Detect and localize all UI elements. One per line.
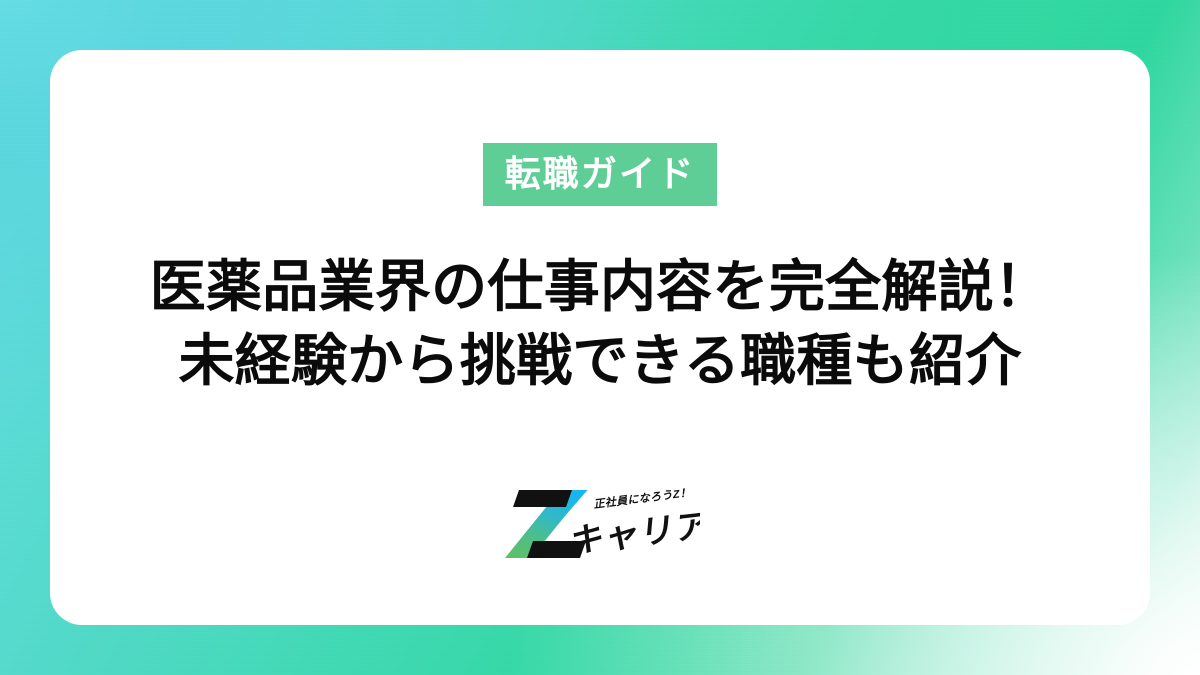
headline-line-2: 未経験から挑戦できる職種も紹介 — [150, 324, 1050, 398]
z-top-bar — [513, 490, 572, 507]
content-card: 転職ガイド 医薬品業界の仕事内容を完全解説！ 未経験から挑戦できる職種も紹介 — [50, 50, 1150, 625]
z-career-logo-icon: 正社員になろうZ！ キャリア — [500, 481, 700, 567]
brand-logo: 正社員になろうZ！ キャリア — [500, 481, 700, 567]
ogp-canvas: 転職ガイド 医薬品業界の仕事内容を完全解説！ 未経験から挑戦できる職種も紹介 — [0, 0, 1200, 675]
headline-line-1: 医薬品業界の仕事内容を完全解説！ — [150, 250, 1050, 324]
logo-tagline: 正社員になろうZ！ — [593, 486, 692, 511]
category-badge: 転職ガイド — [483, 143, 718, 206]
logo-wordmark: キャリア — [568, 507, 700, 561]
page-title: 医薬品業界の仕事内容を完全解説！ 未経験から挑戦できる職種も紹介 — [150, 250, 1050, 398]
